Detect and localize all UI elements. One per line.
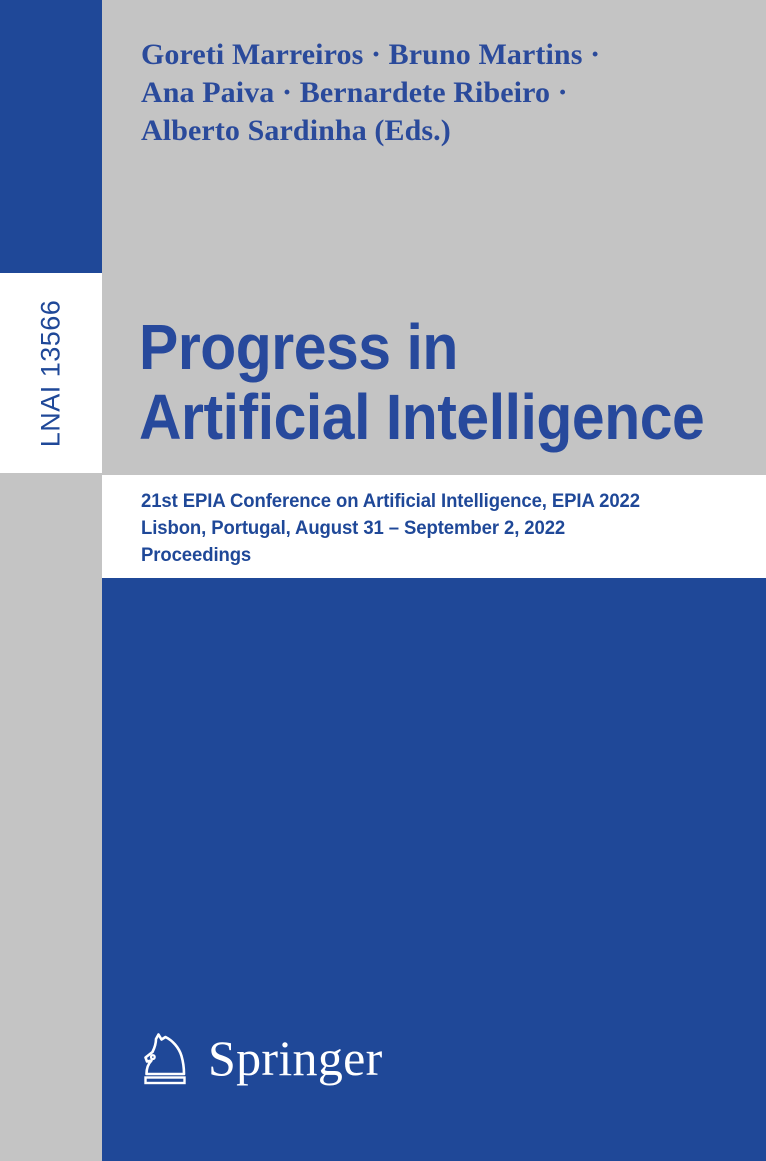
editor-list: Goreti Marreiros · Bruno Martins · Ana P…: [141, 36, 741, 150]
editor-line-3: Alberto Sardinha (Eds.): [141, 112, 741, 150]
series-label: LNAI 13566: [0, 273, 102, 473]
publisher-name: Springer: [208, 1033, 383, 1089]
editor-line-2: Ana Paiva · Bernardete Ribeiro ·: [141, 74, 741, 112]
springer-knight-icon: [136, 1030, 194, 1092]
subtitle-line-1: 21st EPIA Conference on Artificial Intel…: [141, 488, 721, 515]
subtitle-line-3: Proceedings: [141, 542, 721, 569]
subtitle-line-2: Lisbon, Portugal, August 31 – September …: [141, 515, 721, 542]
spine-blue-band: [0, 0, 102, 273]
spine-gray-band: [0, 473, 102, 1161]
title-line-2: Artificial Intelligence: [139, 382, 709, 452]
book-subtitle: 21st EPIA Conference on Artificial Intel…: [141, 488, 721, 569]
publisher-logo: Springer: [136, 1028, 383, 1094]
series-label-text: LNAI 13566: [36, 299, 67, 447]
book-title: Progress in Artificial Intelligence: [139, 312, 709, 452]
book-cover: LNAI 13566 Goreti Marreiros · Bruno Mart…: [0, 0, 766, 1161]
title-line-1: Progress in: [139, 312, 709, 382]
editor-line-1: Goreti Marreiros · Bruno Martins ·: [141, 36, 741, 74]
